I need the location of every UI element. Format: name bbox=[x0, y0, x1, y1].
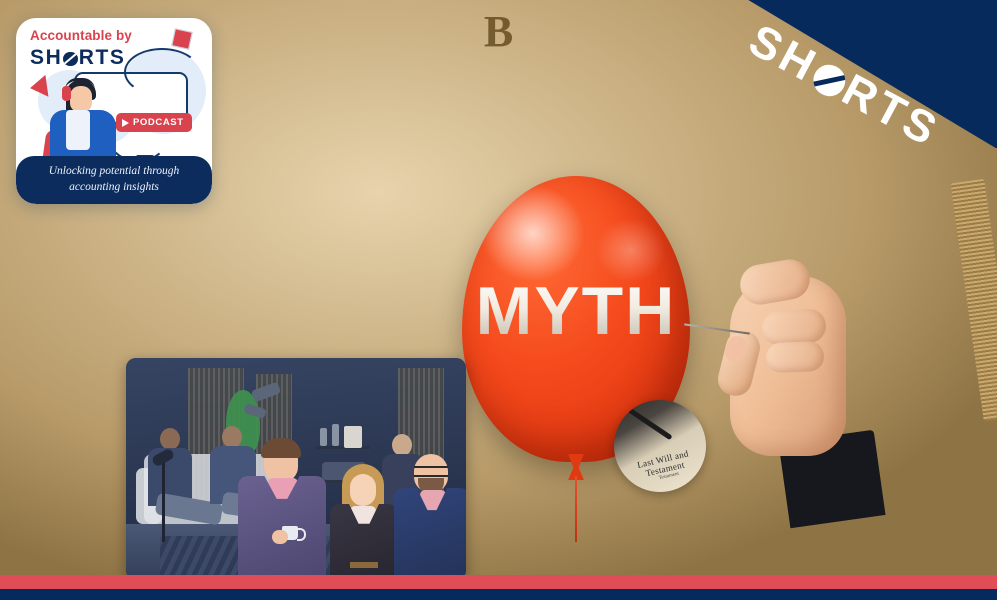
background-person-head bbox=[392, 434, 412, 456]
card-brand-wordmark: SH RTS bbox=[30, 46, 126, 70]
card-decor-triangle bbox=[29, 75, 49, 99]
footer-navy-strip bbox=[0, 589, 997, 600]
card-tagline-line-2: accounting insights bbox=[59, 181, 169, 193]
podcast-badge[interactable]: PODCAST bbox=[116, 113, 192, 132]
presenter-1-hair bbox=[261, 438, 301, 458]
promo-graphic-canvas: Dispelling the most common myths about I… bbox=[0, 0, 997, 600]
card-tagline: Unlocking potential through accounting i… bbox=[16, 156, 212, 204]
balloon-string bbox=[575, 476, 577, 542]
balloon-label: MYTH bbox=[462, 272, 690, 350]
card-headphone-earcup-icon bbox=[62, 86, 71, 101]
card-person-scarf bbox=[66, 110, 90, 150]
hand-with-needle bbox=[700, 258, 880, 518]
last-will-and-testament-photo: Last Will and Testament Testament bbox=[614, 400, 706, 492]
card-brand-suffix: RTS bbox=[79, 46, 126, 70]
presenter-2-face bbox=[350, 474, 376, 506]
presenter-1-hand bbox=[272, 530, 288, 544]
card-headphone-cord bbox=[124, 48, 200, 96]
background-person-head bbox=[222, 426, 242, 448]
card-tagline-text: Unlocking potential through accounting i… bbox=[29, 164, 200, 195]
card-decor-square bbox=[171, 28, 192, 49]
card-eyebrow: Accountable by bbox=[30, 28, 132, 43]
play-icon bbox=[122, 119, 129, 127]
middle-finger-knuckle bbox=[761, 308, 827, 346]
shorts-o-logo-icon bbox=[63, 52, 78, 67]
studio-bottle bbox=[320, 428, 327, 446]
studio-picture-frame bbox=[344, 426, 362, 448]
background-person-head bbox=[160, 428, 180, 450]
presenter-3-glasses bbox=[414, 466, 448, 477]
studio-bottle bbox=[332, 424, 339, 446]
podcast-brand-card[interactable]: Accountable by SH RTS PODCAST Unlocking … bbox=[16, 18, 212, 204]
microphone-stand bbox=[162, 456, 165, 542]
card-tagline-line-1: Unlocking potential through bbox=[39, 165, 190, 177]
card-brand-prefix: SH bbox=[30, 46, 62, 70]
ring-finger-knuckle bbox=[765, 341, 824, 373]
podcast-badge-label: PODCAST bbox=[133, 117, 184, 128]
corner-brand-banner: SH RTS bbox=[747, 0, 997, 148]
podcast-studio-team-photo bbox=[126, 358, 466, 580]
presenter-2-belt bbox=[350, 562, 378, 568]
